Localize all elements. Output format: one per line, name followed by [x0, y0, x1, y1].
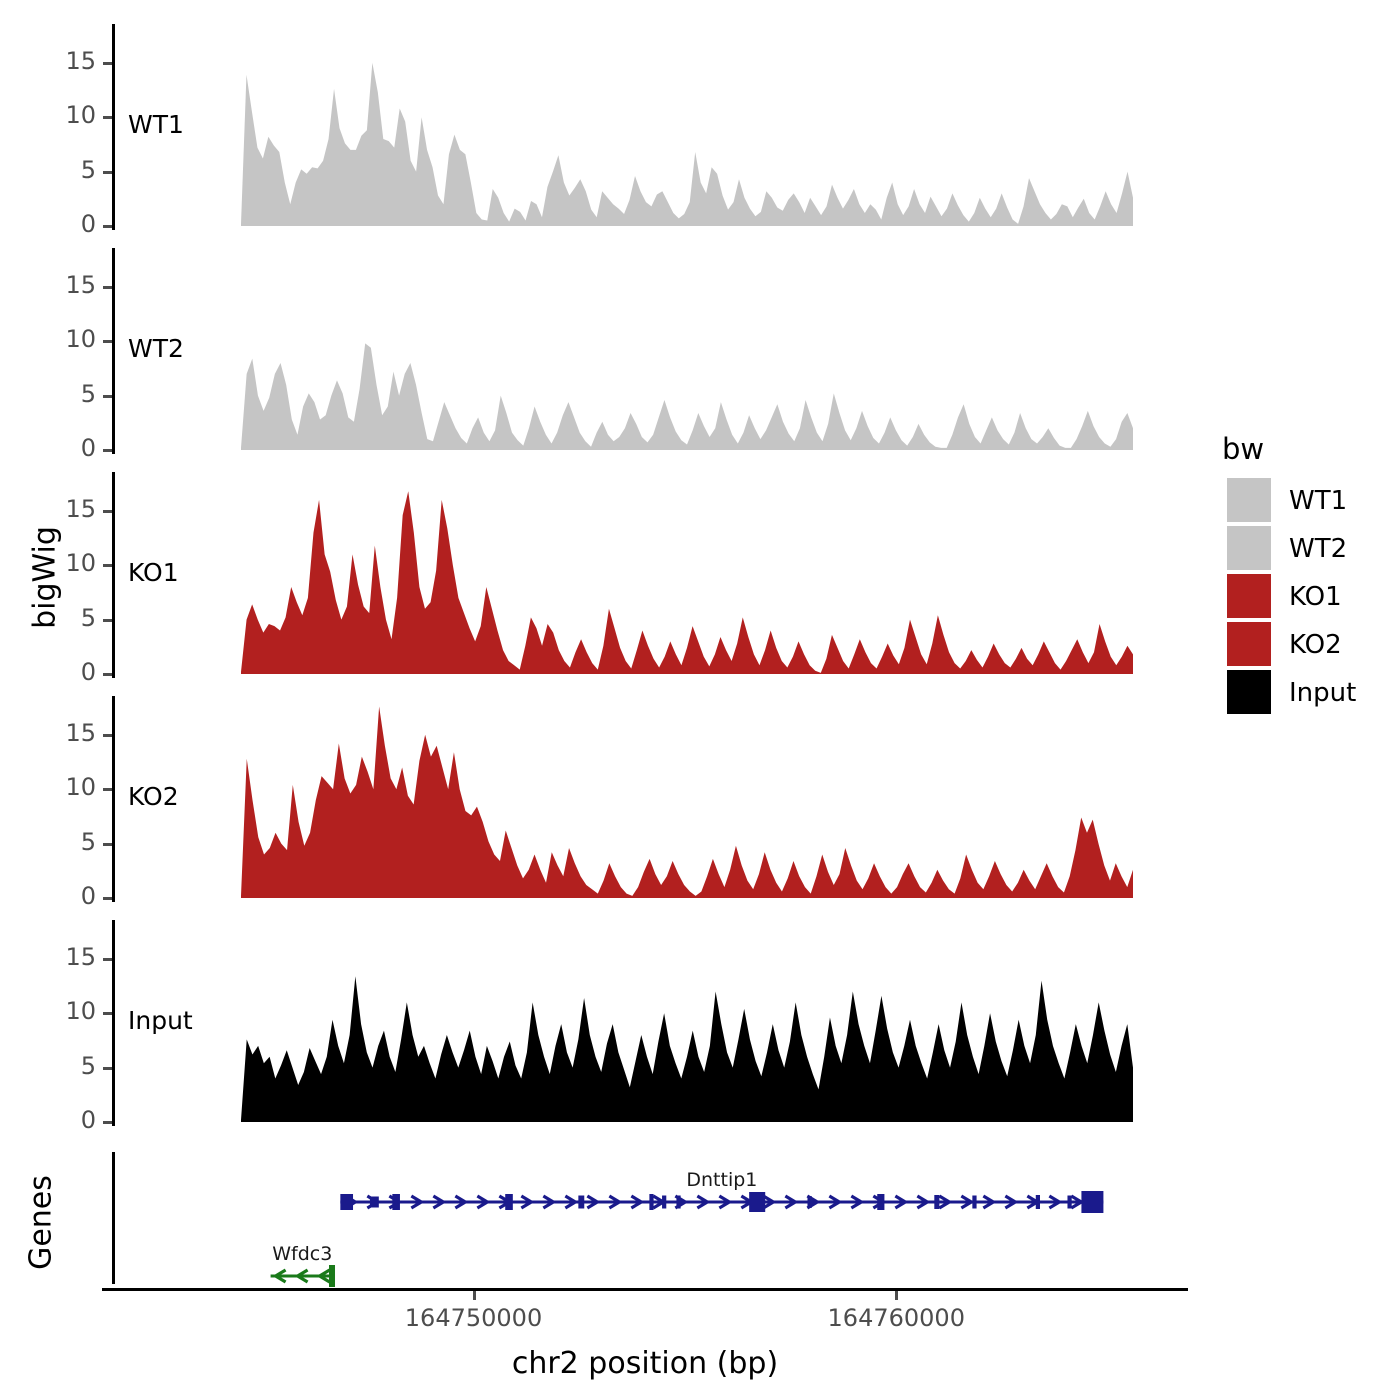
- legend-key-wt2: [1227, 526, 1271, 570]
- y-tick-mark: [103, 788, 112, 791]
- x-axis-title: chr2 position (bp): [102, 1346, 1188, 1381]
- track-area-ko1: [112, 476, 1160, 676]
- y-tick-label: 0: [0, 882, 96, 910]
- y-tick-mark: [103, 225, 112, 228]
- y-tick-mark: [103, 1012, 112, 1015]
- legend-key-ko2: [1227, 622, 1271, 666]
- y-tick-mark: [103, 1121, 112, 1124]
- legend-label-wt2: WT2: [1289, 534, 1347, 564]
- track-area-ko2: [112, 700, 1160, 900]
- y-tick-mark: [103, 958, 112, 961]
- y-tick-mark: [103, 843, 112, 846]
- track-area-input: [112, 924, 1160, 1124]
- y-tick-mark: [103, 340, 112, 343]
- track-area-wt2: [112, 252, 1160, 452]
- y-tick-label: 5: [0, 156, 96, 184]
- y-tick-label: 5: [0, 828, 96, 856]
- y-tick-label: 15: [0, 271, 96, 299]
- y-tick-mark: [103, 673, 112, 676]
- y-tick-label: 0: [0, 210, 96, 238]
- gene-dnttip1[interactable]: [340, 1191, 1103, 1213]
- y-tick-mark: [103, 62, 112, 65]
- y-tick-label: 5: [0, 1052, 96, 1080]
- y-tick-mark: [103, 395, 112, 398]
- y-tick-label: 10: [0, 325, 96, 353]
- y-tick-label: 10: [0, 773, 96, 801]
- x-tick-mark: [473, 1291, 476, 1300]
- y-tick-label: 5: [0, 380, 96, 408]
- legend-key-ko1: [1227, 574, 1271, 618]
- y-tick-mark: [103, 116, 112, 119]
- y-tick-label: 0: [0, 434, 96, 462]
- genes-axis-title: Genes: [24, 1133, 59, 1313]
- legend-key-wt1: [1227, 478, 1271, 522]
- y-tick-mark: [103, 619, 112, 622]
- x-tick-label: 164760000: [746, 1304, 1046, 1332]
- legend-label-ko1: KO1: [1289, 582, 1342, 612]
- x-axis-line: [102, 1288, 1188, 1291]
- y-tick-mark: [103, 734, 112, 737]
- y-tick-mark: [103, 286, 112, 289]
- gene-label-wfdc3: Wfdc3: [202, 1243, 402, 1265]
- y-tick-mark: [103, 564, 112, 567]
- y-tick-mark: [103, 510, 112, 513]
- figure-root: bigWigGenes051015WT1051015WT2051015KO105…: [0, 0, 1400, 1400]
- y-tick-label: 15: [0, 943, 96, 971]
- y-tick-label: 15: [0, 47, 96, 75]
- y-tick-mark: [103, 449, 112, 452]
- gene-label-dnttip1: Dnttip1: [622, 1169, 822, 1191]
- legend-label-wt1: WT1: [1289, 486, 1347, 516]
- y-tick-label: 10: [0, 997, 96, 1025]
- x-tick-mark: [895, 1291, 898, 1300]
- legend-label-input: Input: [1289, 678, 1356, 708]
- y-tick-label: 5: [0, 604, 96, 632]
- y-tick-mark: [103, 1067, 112, 1070]
- gene-wfdc3[interactable]: [271, 1265, 335, 1287]
- track-area-wt1: [112, 28, 1160, 228]
- y-tick-label: 0: [0, 1106, 96, 1134]
- legend-key-input: [1227, 670, 1271, 714]
- y-tick-label: 10: [0, 549, 96, 577]
- y-tick-label: 10: [0, 101, 96, 129]
- x-tick-label: 164750000: [324, 1304, 624, 1332]
- y-tick-label: 0: [0, 658, 96, 686]
- legend-label-ko2: KO2: [1289, 630, 1342, 660]
- legend-title: bw: [1222, 432, 1264, 466]
- y-tick-mark: [103, 171, 112, 174]
- y-tick-label: 15: [0, 495, 96, 523]
- y-tick-label: 15: [0, 719, 96, 747]
- y-tick-mark: [103, 897, 112, 900]
